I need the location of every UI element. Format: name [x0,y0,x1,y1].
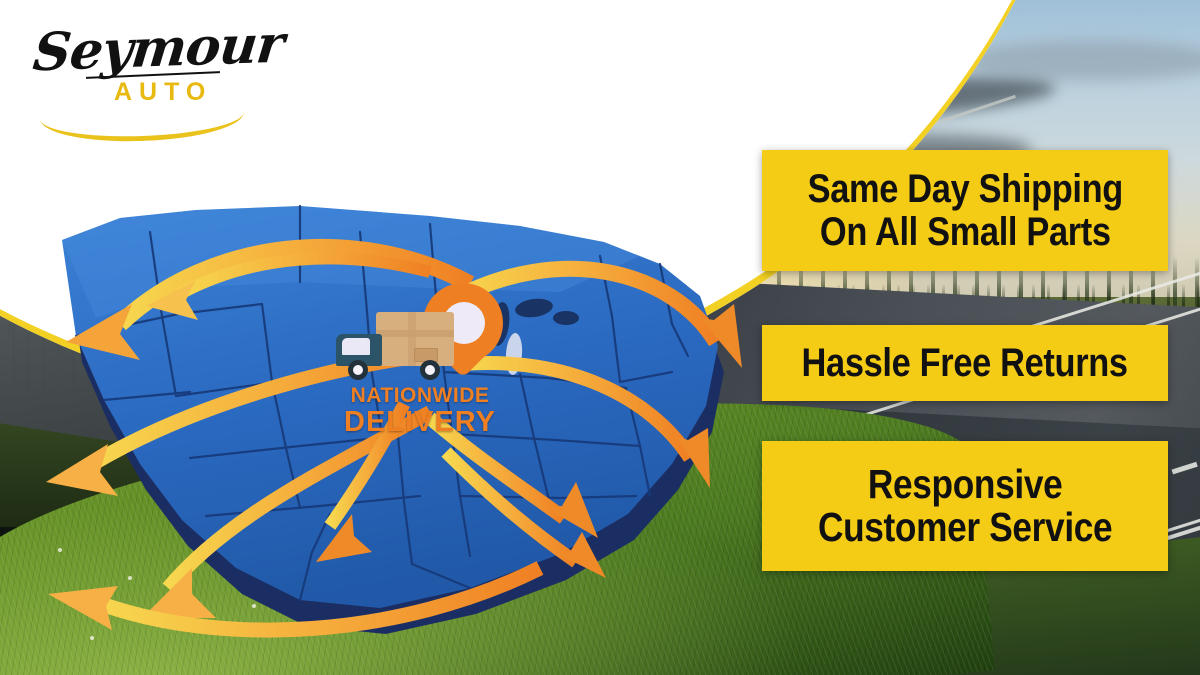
feature-text: Same Day Shipping On All Small Parts [807,168,1122,253]
brand-logo[interactable]: Seymour AUTO [26,16,256,126]
truck-wheel-rear [420,360,440,380]
nationwide-delivery-badge: NATIONWIDE DELIVERY [330,280,510,450]
feature-text: Hassle Free Returns [802,342,1128,384]
feature-box-hassle-free-returns[interactable]: Hassle Free Returns [762,325,1168,401]
feature-box-same-day-shipping[interactable]: Same Day Shipping On All Small Parts [762,150,1168,271]
truck-window [342,338,370,355]
feature-line-2: On All Small Parts [807,211,1122,253]
cloud [960,41,1200,82]
feature-line-2: Customer Service [818,506,1112,549]
delivery-label: DELIVERY [330,406,510,439]
feature-box-responsive-customer-service[interactable]: Responsive Customer Service [762,441,1168,571]
nationwide-delivery-text: NATIONWIDE DELIVERY [330,384,510,439]
marketing-banner: Seymour AUTO [0,0,1200,675]
feature-line-1: Responsive [818,463,1112,506]
feature-line-1: Hassle Free Returns [802,342,1128,384]
nationwide-label: NATIONWIDE [330,384,510,408]
feature-line-1: Same Day Shipping [807,168,1122,210]
feature-text: Responsive Customer Service [818,463,1112,550]
truck-wheel-front [348,360,368,380]
delivery-truck-icon [336,308,458,380]
